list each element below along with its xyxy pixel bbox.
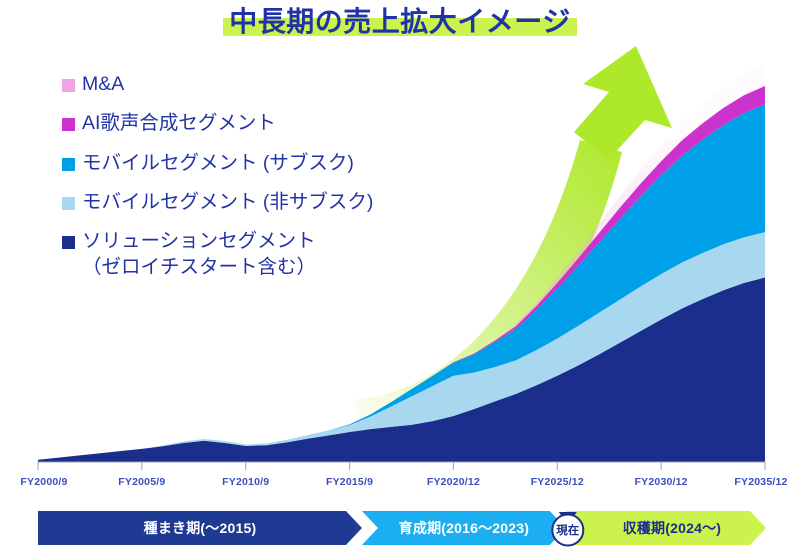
now-marker-label: 現在 <box>556 522 579 538</box>
legend-item[interactable]: M&A <box>62 72 492 97</box>
phase-label: 育成期(2016～2023) <box>399 518 529 538</box>
legend-item-label: AI歌声合成セグメント <box>82 111 276 136</box>
legend-swatch-icon <box>62 118 75 131</box>
legend-item[interactable]: ソリューションセグメント （ゼロイチスタート含む） <box>62 229 492 280</box>
legend-item-label: ソリューションセグメント （ゼロイチスタート含む） <box>82 229 316 280</box>
x-axis-tick-label: FY2020/12 <box>427 476 480 488</box>
x-axis-tick-label: FY2015/9 <box>326 476 373 488</box>
title-text: 中長期の売上拡大イメージ <box>229 6 570 37</box>
phase-label: 収穫期(2024～) <box>623 518 721 538</box>
legend-item-label: モバイルセグメント (非サブスク) <box>82 190 373 215</box>
legend-item[interactable]: モバイルセグメント (非サブスク) <box>62 190 492 215</box>
x-axis-tick-label: FY2035/12 <box>734 476 787 488</box>
legend-swatch-icon <box>62 197 75 210</box>
legend-item[interactable]: AI歌声合成セグメント <box>62 111 492 136</box>
legend-swatch-icon <box>62 79 75 92</box>
legend-item-label: M&A <box>82 72 124 97</box>
x-axis-tick-label: FY2025/12 <box>531 476 584 488</box>
legend-item-label: モバイルセグメント (サブスク) <box>82 151 354 176</box>
legend-swatch-icon <box>62 236 75 249</box>
legend-swatch-icon <box>62 158 75 171</box>
x-axis-tick-label: FY2010/9 <box>222 476 269 488</box>
phase-label: 種まき期(～2015) <box>144 518 257 538</box>
x-axis-tick-label: FY2030/12 <box>635 476 688 488</box>
legend-item[interactable]: モバイルセグメント (サブスク) <box>62 151 492 176</box>
slide-root: 中長期の売上拡大イメージ M&AAI歌声合成セグメントモバイルセグメント (サブ… <box>0 0 800 555</box>
chart-legend: M&AAI歌声合成セグメントモバイルセグメント (サブスク)モバイルセグメント … <box>62 72 492 286</box>
x-axis-tick-label: FY2000/9 <box>20 476 67 488</box>
x-axis-tick-label: FY2005/9 <box>118 476 165 488</box>
